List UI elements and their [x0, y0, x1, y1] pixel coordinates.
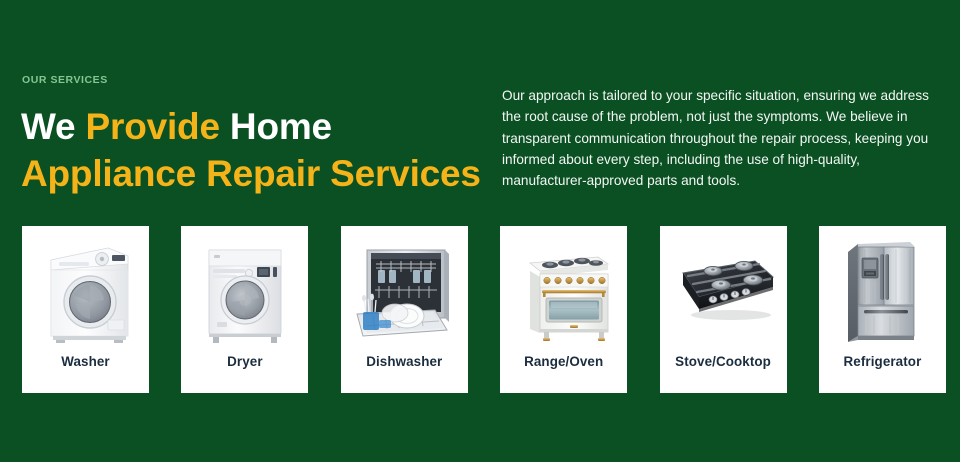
service-card-dryer[interactable]: Dryer: [181, 226, 308, 393]
headline-part-2: Home: [220, 106, 332, 147]
stove-cooktop-icon: [660, 234, 787, 349]
refrigerator-icon: [819, 234, 946, 349]
service-card-label: Refrigerator: [819, 354, 946, 369]
service-card-label: Dishwasher: [341, 354, 468, 369]
dryer-icon: [181, 234, 308, 349]
section-eyebrow: OUR SERVICES: [22, 74, 108, 86]
service-card-refrigerator[interactable]: Refrigerator: [819, 226, 946, 393]
dishwasher-icon: [341, 234, 468, 349]
service-card-washer[interactable]: Washer: [22, 226, 149, 393]
washer-icon: [22, 234, 149, 349]
intro-paragraph: Our approach is tailored to your specifi…: [502, 85, 940, 191]
service-card-dishwasher[interactable]: Dishwasher: [341, 226, 468, 393]
service-card-stove-cooktop[interactable]: Stove/Cooktop: [660, 226, 787, 393]
service-card-label: Dryer: [181, 354, 308, 369]
service-card-range-oven[interactable]: Range/Oven: [500, 226, 627, 393]
page-title: We Provide Home Appliance Repair Service…: [21, 103, 491, 197]
headline-line-2: Appliance Repair Services: [21, 153, 481, 194]
range-oven-icon: [500, 234, 627, 349]
service-card-label: Washer: [22, 354, 149, 369]
service-card-label: Stove/Cooktop: [660, 354, 787, 369]
services-card-grid: Washer: [22, 226, 938, 393]
service-card-label: Range/Oven: [500, 354, 627, 369]
headline-accent-word: Provide: [86, 106, 220, 147]
hero-section: OUR SERVICES We Provide Home Appliance R…: [0, 0, 960, 212]
headline-part-1: We: [21, 106, 86, 147]
